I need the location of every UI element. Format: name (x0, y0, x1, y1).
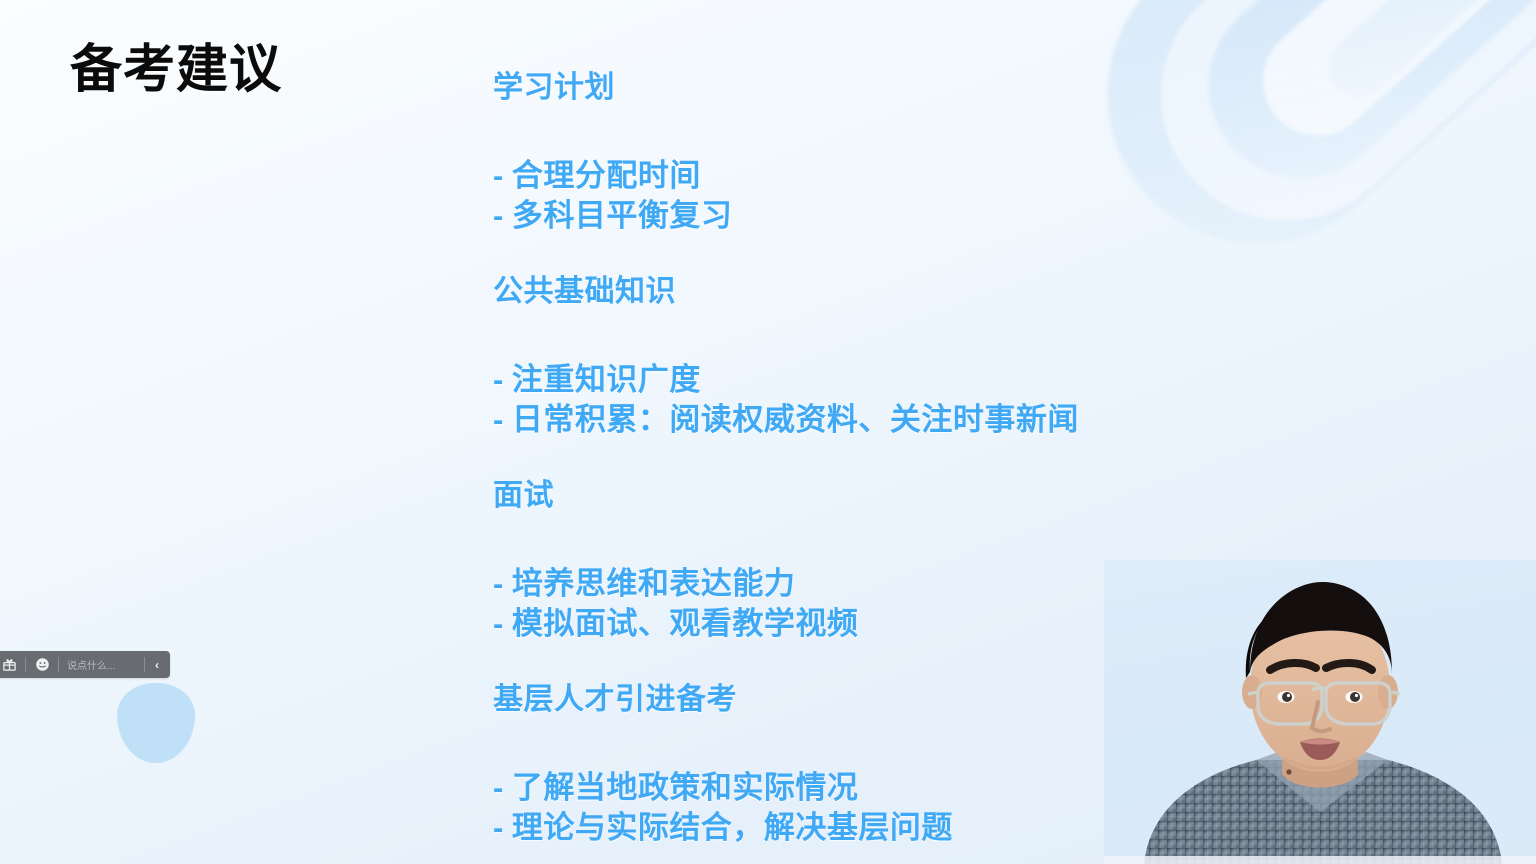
bullet-dash: - (493, 566, 504, 601)
bullet-dash: - (493, 198, 504, 233)
spacer (493, 103, 1393, 156)
bullet-text: 了解当地政策和实际情况 (512, 770, 859, 805)
divider (58, 657, 59, 672)
presenter-video-overlay[interactable] (1104, 560, 1536, 864)
bullet-text: 合理分配时间 (512, 158, 701, 193)
bullet-text: 模拟面试、观看教学视频 (512, 606, 859, 641)
divider (25, 657, 26, 672)
presenter-figure (1104, 560, 1536, 864)
list-item: -日常积累：阅读权威资料、关注时事新闻 (493, 400, 1393, 440)
bullet-list: -注重知识广度 -日常积累：阅读权威资料、关注时事新闻 (493, 360, 1393, 440)
list-item: -多科目平衡复习 (493, 196, 1393, 236)
section-heading: 公共基础知识 (493, 277, 1393, 307)
bullet-text: 理论与实际结合，解决基层问题 (512, 810, 953, 845)
divider (144, 657, 145, 672)
bullet-list: -合理分配时间 -多科目平衡复习 (493, 156, 1393, 236)
list-item: -合理分配时间 (493, 156, 1393, 196)
page-title: 备考建议 (70, 42, 282, 99)
chevron-left-icon[interactable]: ‹ (148, 655, 166, 675)
bullet-dash: - (493, 810, 504, 845)
bullet-text: 多科目平衡复习 (512, 198, 733, 233)
bullet-text: 培养思维和表达能力 (512, 566, 796, 601)
bullet-dash: - (493, 362, 504, 397)
spacer (493, 236, 1393, 277)
spacer (493, 440, 1393, 481)
blue-blob-decoration (116, 682, 195, 763)
bullet-dash: - (493, 402, 504, 437)
bullet-dash: - (493, 158, 504, 193)
section-public-basics: 公共基础知识 -注重知识广度 -日常积累：阅读权威资料、关注时事新闻 (493, 277, 1393, 440)
spacer (493, 307, 1393, 360)
section-heading: 学习计划 (493, 73, 1393, 103)
section-study-plan: 学习计划 -合理分配时间 -多科目平衡复习 (493, 73, 1393, 236)
smiley-icon[interactable] (32, 655, 52, 675)
list-item: -注重知识广度 (493, 360, 1393, 400)
spacer (493, 511, 1393, 564)
slide-canvas: 备考建议 学习计划 -合理分配时间 -多科目平衡复习 公共基础知识 -注重知识广… (0, 0, 1536, 864)
section-heading: 面试 (493, 481, 1393, 511)
chat-message-input[interactable]: 说点什么... (62, 657, 141, 672)
bullet-dash: - (493, 606, 504, 641)
bullet-dash: - (493, 770, 504, 805)
bullet-text: 日常积累：阅读权威资料、关注时事新闻 (512, 402, 1079, 437)
gift-icon[interactable] (0, 655, 19, 675)
chat-input-bar[interactable]: 说点什么... ‹ (0, 651, 170, 678)
bullet-text: 注重知识广度 (512, 362, 701, 397)
